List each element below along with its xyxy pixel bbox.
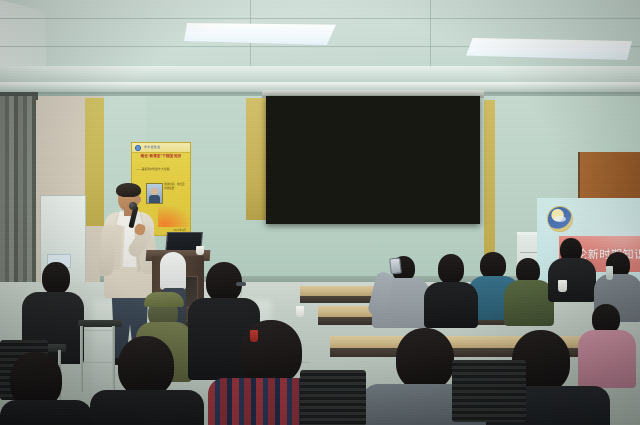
window-curtain [0,96,36,311]
microphone-head-icon [129,202,137,210]
water-bottle [606,266,613,280]
poster-body-text: 讲座时间、地点及内容提要 [164,183,187,191]
tablet-arm-desk [78,320,122,327]
university-seal-icon [547,206,573,232]
lecture-hall-photo: 中国·中国·人文 · 社会科学 论新时期知识分子的操守 赵 强 2017.9.9… [0,0,640,425]
wall-accent-stripe-right [246,98,268,220]
red-cup [250,330,258,342]
phone-icon [389,257,402,274]
cap-icon [144,292,184,307]
poster-subtitle: ——兼析新时代的十大命题 [136,167,186,171]
chair-back [452,360,526,422]
poster-header-bar: 学术报告会 [132,143,190,153]
poster-title: 略论“新常态”下我国·知识 [135,154,187,159]
glasses-icon [236,282,246,286]
paper-cup [296,306,304,317]
presenter-hair [116,183,141,197]
poster-logo-icon [135,145,141,151]
poster-graphic-flare [158,205,191,227]
paper-cup-podium [196,246,204,255]
projector-screen-frame: 中国·中国·人文 · 社会科学 论新时期知识分子的操守 赵 强 2017.9.9… [266,96,480,224]
paper-cup [558,280,567,292]
poster-org-text: 学术报告会 [144,145,161,149]
poster-speaker-photo [146,183,163,204]
chair-back [300,370,366,425]
